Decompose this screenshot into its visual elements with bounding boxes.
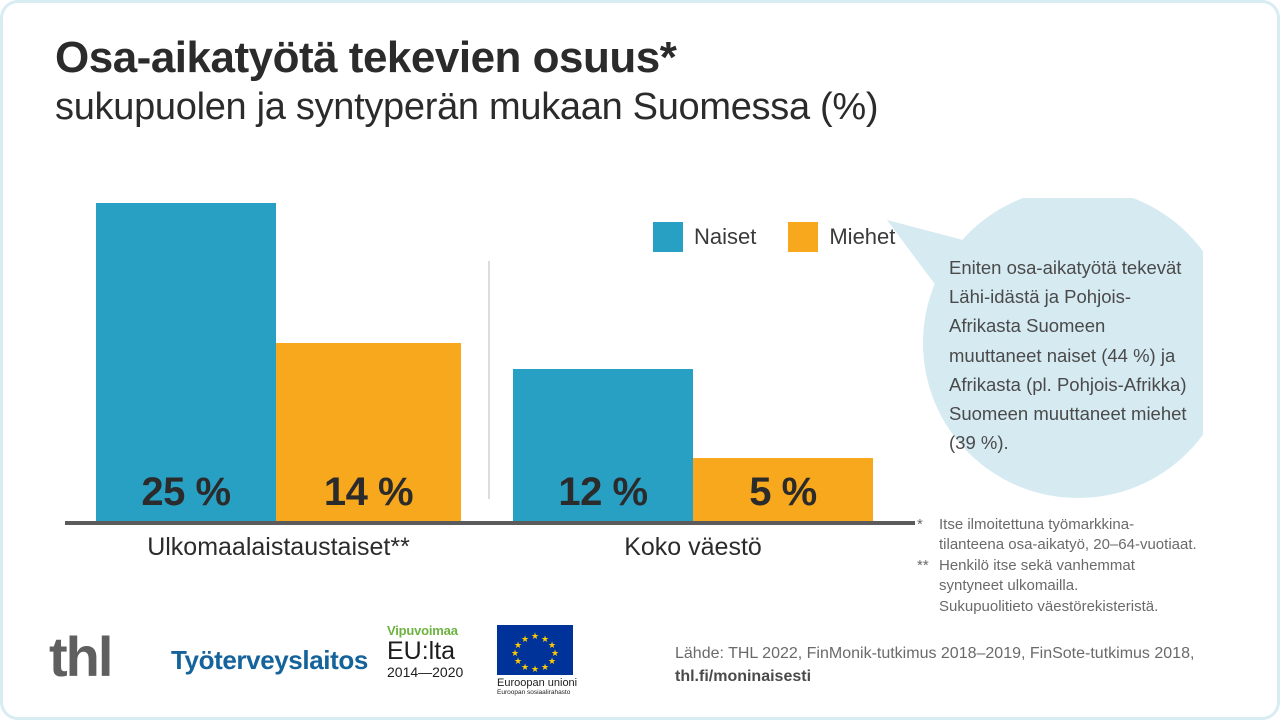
group-divider-line	[488, 261, 490, 499]
bar-miehet-koko-vaesto: 5 %	[693, 458, 873, 521]
group-label-ulkomaalaistaustaiset: Ulkomaalaistaustaiset**	[96, 533, 461, 562]
source-block: Lähde: THL 2022, FinMonik-tutkimus 2018–…	[675, 643, 1255, 688]
eu-flag-subcaption: Euroopan sosiaalirahasto	[497, 689, 595, 696]
eu-flag-icon: ★ ★ ★ ★ ★ ★ ★ ★ ★ ★ ★ ★	[497, 625, 573, 675]
tyoterveyslaitos-logo: Työterveyslaitos	[171, 647, 368, 673]
bar-naiset-koko-vaesto: 12 %	[513, 369, 693, 521]
footnote-mark-single: *	[917, 515, 939, 535]
group-label-koko-vaesto: Koko väestö	[513, 533, 873, 562]
footnote-single-line1: Itse ilmoitettuna työmarkkina-	[939, 515, 1247, 535]
footnote-double-line2: syntyneet ulkomailla.	[939, 576, 1247, 596]
bar-value-miehet-ulkomaalaistaustaiset: 14 %	[276, 470, 461, 515]
legend-swatch-naiset	[653, 222, 683, 252]
eu-flag-caption: Euroopan unioni	[497, 677, 595, 689]
bar-value-miehet-koko-vaesto: 5 %	[693, 470, 873, 515]
source-link[interactable]: thl.fi/moninaisesti	[675, 666, 1255, 689]
bar-value-naiset-koko-vaesto: 12 %	[513, 470, 693, 515]
thl-logo: thl	[49, 629, 111, 685]
eu-funding-logo: Vipuvoimaa EU:lta 2014—2020	[387, 624, 477, 680]
footnote-double-line3: Sukupuolitieto väestörekisteristä.	[939, 597, 1247, 617]
bar-miehet-ulkomaalaistaustaiset: 14 %	[276, 343, 461, 521]
footnote-single-line2: tilanteena osa-aikatyö, 20–64-vuotiaat.	[939, 535, 1247, 555]
footnote-double-line1: Henkilö itse sekä vanhemmat	[939, 556, 1247, 576]
bar-value-naiset-ulkomaalaistaustaiset: 25 %	[96, 470, 276, 515]
legend-item-naiset: Naiset	[653, 222, 756, 252]
legend-swatch-miehet	[788, 222, 818, 252]
footnote-double-star: ** Henkilö itse sekä vanhemmat	[917, 556, 1247, 576]
eu-flag-logo: ★ ★ ★ ★ ★ ★ ★ ★ ★ ★ ★ ★ Euroopan unioni …	[497, 625, 595, 696]
eu-funding-middle-text: EU:lta	[387, 638, 477, 664]
legend-label-naiset: Naiset	[694, 224, 756, 250]
chart-legend: Naiset Miehet	[653, 222, 895, 252]
infographic-poster: Osa-aikatyötä tekevien osuus* sukupuolen…	[0, 0, 1280, 720]
bar-naiset-ulkomaalaistaustaiset: 25 %	[96, 203, 276, 521]
footnote-mark-double: **	[917, 556, 939, 576]
eu-funding-top-text: Vipuvoimaa	[387, 624, 477, 638]
x-axis-line	[65, 521, 915, 525]
callout-bubble-text: Eniten osa-aikatyötä tekevät Lähi-idästä…	[949, 253, 1199, 458]
footnote-single-star: * Itse ilmoitettuna työmarkkina-	[917, 515, 1247, 535]
legend-item-miehet: Miehet	[788, 222, 895, 252]
source-text: Lähde: THL 2022, FinMonik-tutkimus 2018–…	[675, 643, 1255, 666]
callout-bubble: Eniten osa-aikatyötä tekevät Lähi-idästä…	[883, 198, 1203, 518]
eu-funding-years-text: 2014—2020	[387, 665, 477, 680]
footnotes: * Itse ilmoitettuna työmarkkina- tilante…	[917, 515, 1247, 617]
